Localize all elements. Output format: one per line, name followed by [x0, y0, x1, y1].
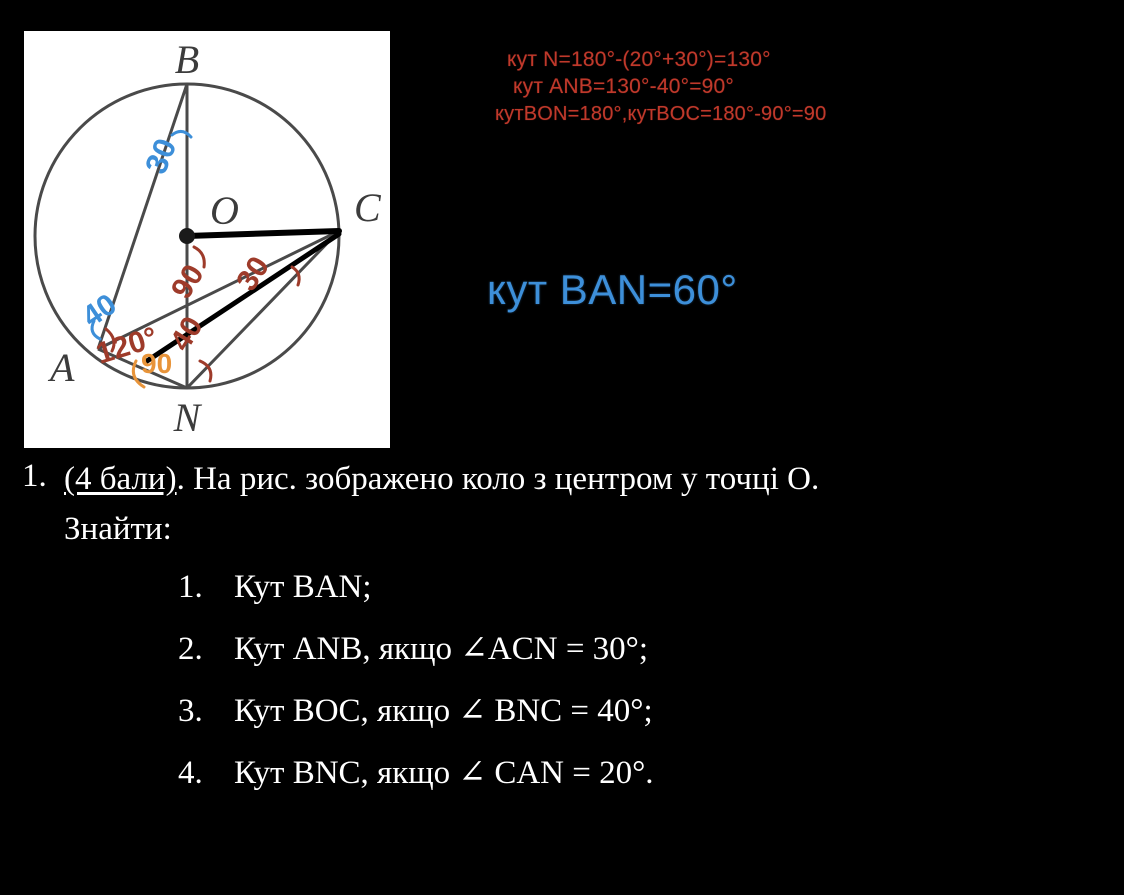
- question-number: 1.: [22, 458, 47, 495]
- list-item-marker: 1.: [178, 556, 203, 618]
- find-label: Знайти:: [64, 511, 1124, 548]
- list-item-text: Кут BAN;: [234, 569, 372, 605]
- question-block: 1. (4 бали). На рис. зображено коло з це…: [0, 458, 1124, 804]
- handwritten-90-at-N: 90: [141, 348, 172, 379]
- annotation-line-2: кут ANB=130°-40°=90°: [513, 73, 965, 100]
- question-statement: (4 бали). На рис. зображено коло з центр…: [64, 458, 1116, 501]
- handwritten-30-at-C: 30: [230, 251, 276, 297]
- segment-NC: [187, 231, 339, 388]
- top-region: B O C A N 30 40 120° 90 30 40: [0, 0, 1124, 455]
- list-item: 1. Кут BAN;: [0, 556, 1124, 618]
- list-item: 3. Кут BOC, якщо ∠ BNC = 40°;: [0, 680, 1124, 742]
- label-O: O: [210, 188, 239, 233]
- geometry-diagram: B O C A N 30 40 120° 90 30 40: [24, 31, 390, 448]
- list-item-marker: 2.: [178, 618, 203, 680]
- label-N: N: [173, 395, 203, 440]
- list-item-text: Кут BOC, якщо ∠ BNC = 40°;: [234, 693, 653, 729]
- arc-mark-at-O: [194, 247, 204, 267]
- geometry-figure-panel: B O C A N 30 40 120° 90 30 40: [24, 31, 390, 448]
- list-item-marker: 3.: [178, 680, 203, 742]
- question-points-badge: (4 бали): [64, 461, 177, 497]
- handwritten-30-at-B: 30: [138, 134, 183, 179]
- label-A: A: [47, 345, 75, 390]
- question-statement-text: . На рис. зображено коло з центром у точ…: [177, 461, 820, 497]
- list-item-marker: 4.: [178, 742, 203, 804]
- question-items-list: 1. Кут BAN; 2. Кут ANB, якщо ∠ACN = 30°;…: [0, 556, 1124, 804]
- question-main-row: 1. (4 бали). На рис. зображено коло з це…: [0, 458, 1124, 501]
- faint-residual-artifacts: [495, 150, 925, 260]
- list-item: 4. Кут BNC, якщо ∠ CAN = 20°.: [0, 742, 1124, 804]
- label-B: B: [175, 37, 199, 82]
- label-C: C: [354, 185, 382, 230]
- center-point-O-dot: [179, 228, 195, 244]
- list-item-text: Кут BNC, якщо ∠ CAN = 20°.: [234, 755, 654, 791]
- red-annotation-block: кут N=180°-(20°+30°)=130° кут ANB=130°-4…: [495, 46, 965, 127]
- list-item: 2. Кут ANB, якщо ∠ACN = 30°;: [0, 618, 1124, 680]
- annotation-line-1: кут N=180°-(20°+30°)=130°: [507, 46, 965, 73]
- blue-answer-text: кут BAN=60°: [487, 266, 738, 314]
- annotation-line-3: кутBON=180°,кутBOC=180°-90°=90: [495, 101, 965, 127]
- list-item-text: Кут ANB, якщо ∠ACN = 30°;: [234, 631, 648, 667]
